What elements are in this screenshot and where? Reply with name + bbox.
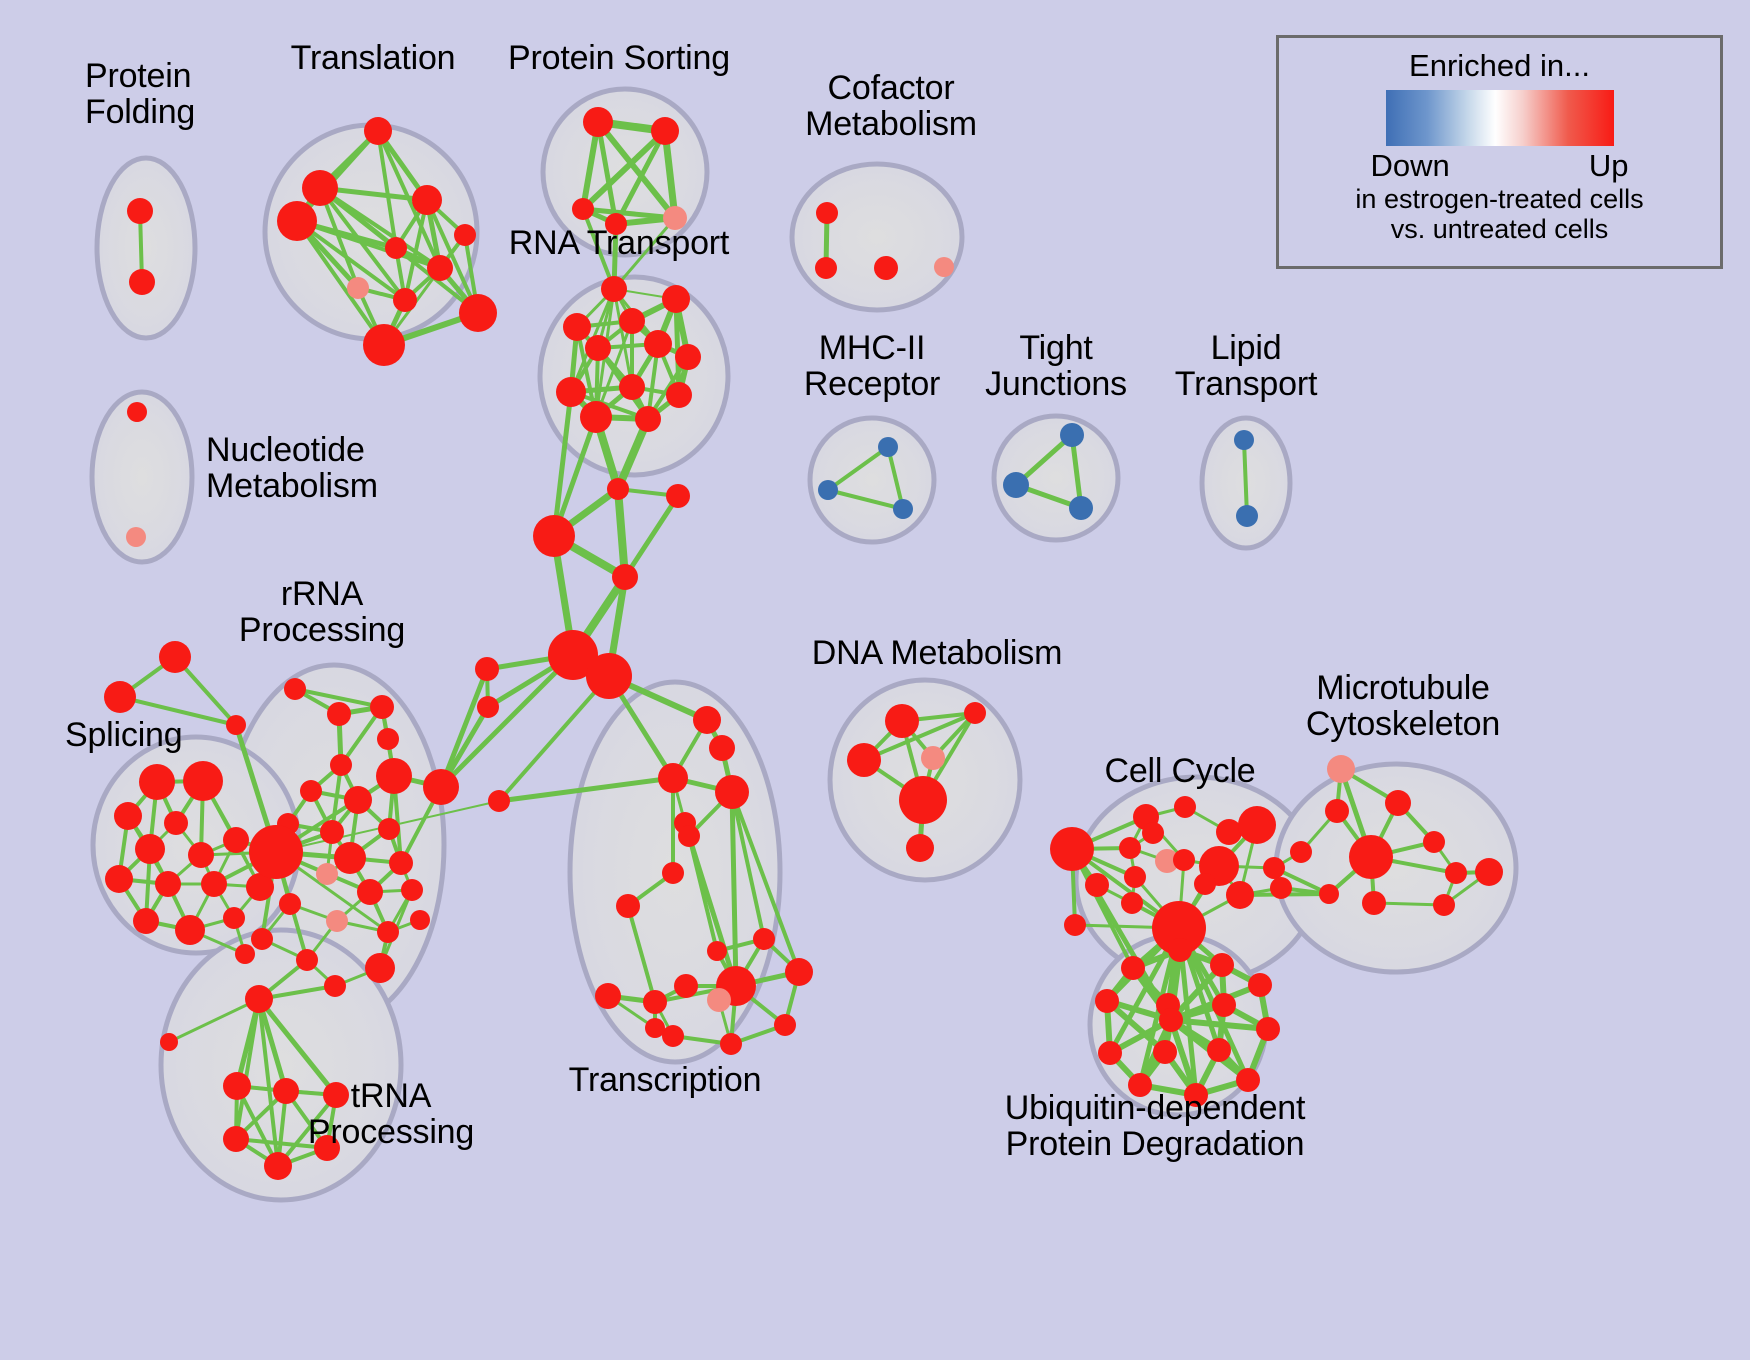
network-node[interactable] xyxy=(658,763,688,793)
network-figure: ProteinFoldingTranslationProtein Sorting… xyxy=(0,0,1750,1360)
cluster-label-splicing: Splicing xyxy=(65,717,182,753)
network-node[interactable] xyxy=(459,294,497,332)
network-node[interactable] xyxy=(365,953,395,983)
network-node[interactable] xyxy=(330,754,352,776)
network-edge xyxy=(618,489,625,577)
cluster-hull-protein-folding xyxy=(97,158,195,338)
network-node[interactable] xyxy=(389,851,413,875)
network-node[interactable] xyxy=(899,776,947,824)
network-node[interactable] xyxy=(1168,938,1192,962)
network-node[interactable] xyxy=(364,117,392,145)
cluster-label-line: RNA Transport xyxy=(509,225,729,261)
network-node[interactable] xyxy=(223,827,249,853)
cluster-hull-cofactor-metabolism xyxy=(792,164,962,310)
network-node[interactable] xyxy=(693,706,721,734)
network-node[interactable] xyxy=(127,198,153,224)
network-node[interactable] xyxy=(1319,884,1339,904)
network-node[interactable] xyxy=(1173,849,1195,871)
network-node[interactable] xyxy=(662,862,684,884)
cluster-label-line: tRNA xyxy=(308,1078,474,1114)
cluster-label-tight-junctions: TightJunctions xyxy=(985,330,1127,402)
cluster-label-line: Cell Cycle xyxy=(1104,753,1255,789)
network-node[interactable] xyxy=(674,974,698,998)
network-node[interactable] xyxy=(357,879,383,905)
network-node[interactable] xyxy=(160,1033,178,1051)
cluster-label-microtubule-cytoskeleton: MicrotubuleCytoskeleton xyxy=(1306,670,1500,742)
network-node[interactable] xyxy=(412,185,442,215)
network-node[interactable] xyxy=(709,735,735,761)
network-node[interactable] xyxy=(753,928,775,950)
legend-up-label: Up xyxy=(1589,148,1629,184)
network-node[interactable] xyxy=(964,702,986,724)
network-node[interactable] xyxy=(1174,796,1196,818)
network-node[interactable] xyxy=(601,276,627,302)
network-node[interactable] xyxy=(662,1025,684,1047)
cluster-label-cell-cycle: Cell Cycle xyxy=(1104,753,1255,789)
cluster-label-line: MHC-II xyxy=(804,330,940,366)
network-node[interactable] xyxy=(223,1126,249,1152)
network-node[interactable] xyxy=(651,117,679,145)
network-edge xyxy=(441,655,573,787)
network-node[interactable] xyxy=(223,907,245,929)
cluster-label-line: Lipid xyxy=(1175,330,1317,366)
network-edge xyxy=(625,496,678,577)
legend: Enriched in... Down Up in estrogen-treat… xyxy=(1276,35,1723,269)
network-node[interactable] xyxy=(1095,989,1119,1013)
network-node[interactable] xyxy=(1212,993,1236,1017)
cluster-label-line: Protein Sorting xyxy=(508,40,730,76)
cluster-label-rrna-processing: rRNAProcessing xyxy=(239,576,405,648)
network-node[interactable] xyxy=(1226,881,1254,909)
network-node[interactable] xyxy=(475,657,499,681)
network-node[interactable] xyxy=(324,975,346,997)
legend-endpoint-labels: Down Up xyxy=(1371,148,1629,184)
network-node[interactable] xyxy=(344,786,372,814)
legend-down-label: Down xyxy=(1371,148,1450,184)
cluster-label-line: Processing xyxy=(239,612,405,648)
legend-caption-line1: in estrogen-treated cells xyxy=(1355,184,1643,214)
cluster-label-line: Cofactor xyxy=(805,70,977,106)
network-node[interactable] xyxy=(316,863,338,885)
network-node[interactable] xyxy=(104,681,136,713)
network-node[interactable] xyxy=(1098,1041,1122,1065)
network-node[interactable] xyxy=(423,769,459,805)
network-node[interactable] xyxy=(1349,835,1393,879)
network-node[interactable] xyxy=(635,406,661,432)
network-node[interactable] xyxy=(1327,755,1355,783)
network-node[interactable] xyxy=(1445,862,1467,884)
cluster-label-line: Microtubule xyxy=(1306,670,1500,706)
network-node[interactable] xyxy=(1290,841,1312,863)
cluster-label-line: Cytoskeleton xyxy=(1306,706,1500,742)
cluster-label-nucleotide-metabolism: NucleotideMetabolism xyxy=(206,432,378,504)
cluster-label-line: rRNA xyxy=(239,576,405,612)
network-node[interactable] xyxy=(583,107,613,137)
network-node[interactable] xyxy=(1159,1008,1183,1032)
network-node[interactable] xyxy=(377,728,399,750)
network-node[interactable] xyxy=(707,941,727,961)
network-node[interactable] xyxy=(235,944,255,964)
cluster-label-ubiquitin-degradation: Ubiquitin-dependentProtein Degradation xyxy=(1005,1090,1306,1162)
network-node[interactable] xyxy=(847,743,881,777)
cluster-hull-mhc-ii-receptor xyxy=(810,418,934,542)
cluster-label-translation: Translation xyxy=(291,40,456,76)
cluster-label-protein-sorting: Protein Sorting xyxy=(508,40,730,76)
network-node[interactable] xyxy=(580,401,612,433)
network-node[interactable] xyxy=(133,908,159,934)
network-node[interactable] xyxy=(1119,837,1141,859)
network-node[interactable] xyxy=(815,257,837,279)
network-node[interactable] xyxy=(488,790,510,812)
network-node[interactable] xyxy=(906,834,934,862)
network-node[interactable] xyxy=(785,958,813,986)
network-node[interactable] xyxy=(1194,873,1216,895)
network-node[interactable] xyxy=(1207,1038,1231,1062)
network-node[interactable] xyxy=(1238,806,1276,844)
network-node[interactable] xyxy=(1060,423,1084,447)
network-node[interactable] xyxy=(277,201,317,241)
cluster-label-line: Metabolism xyxy=(805,106,977,142)
network-node[interactable] xyxy=(1256,1017,1280,1041)
network-node[interactable] xyxy=(477,696,499,718)
cluster-label-line: Junctions xyxy=(985,366,1127,402)
legend-color-scale xyxy=(1386,90,1614,146)
network-node[interactable] xyxy=(1362,891,1386,915)
network-node[interactable] xyxy=(707,988,731,1012)
network-node[interactable] xyxy=(410,910,430,930)
cluster-label-line: Translation xyxy=(291,40,456,76)
network-node[interactable] xyxy=(893,499,913,519)
network-node[interactable] xyxy=(874,256,898,280)
network-node[interactable] xyxy=(885,704,919,738)
network-node[interactable] xyxy=(585,335,611,361)
cluster-label-mhc-ii-receptor: MHC-IIReceptor xyxy=(804,330,940,402)
cluster-label-line: Folding xyxy=(85,94,195,130)
network-node[interactable] xyxy=(105,865,133,893)
network-node[interactable] xyxy=(934,257,954,277)
network-node[interactable] xyxy=(139,764,175,800)
network-node[interactable] xyxy=(678,825,700,847)
network-node[interactable] xyxy=(616,894,640,918)
network-node[interactable] xyxy=(878,437,898,457)
cluster-label-protein-folding: ProteinFolding xyxy=(85,58,195,130)
legend-caption-line2: vs. untreated cells xyxy=(1391,214,1609,244)
cluster-label-line: Ubiquitin-dependent xyxy=(1005,1090,1306,1126)
network-node[interactable] xyxy=(363,324,405,366)
network-node[interactable] xyxy=(175,915,205,945)
network-node[interactable] xyxy=(1216,819,1242,845)
cluster-label-line: Tight xyxy=(985,330,1127,366)
network-node[interactable] xyxy=(300,780,322,802)
network-node[interactable] xyxy=(155,871,181,897)
cluster-label-line: Nucleotide xyxy=(206,432,378,468)
network-node[interactable] xyxy=(226,715,246,735)
cluster-label-dna-metabolism: DNA Metabolism xyxy=(812,635,1062,671)
network-node[interactable] xyxy=(612,564,638,590)
legend-title: Enriched in... xyxy=(1409,48,1590,84)
network-node[interactable] xyxy=(1236,505,1258,527)
network-node[interactable] xyxy=(1153,1040,1177,1064)
network-node[interactable] xyxy=(223,1072,251,1100)
network-node[interactable] xyxy=(251,928,273,950)
network-node[interactable] xyxy=(572,198,594,220)
network-node[interactable] xyxy=(245,985,273,1013)
network-node[interactable] xyxy=(427,255,453,281)
network-node[interactable] xyxy=(774,1014,796,1036)
network-node[interactable] xyxy=(1234,430,1254,450)
network-node[interactable] xyxy=(607,478,629,500)
network-node[interactable] xyxy=(715,775,749,809)
network-node[interactable] xyxy=(127,402,147,422)
network-node[interactable] xyxy=(816,202,838,224)
network-node[interactable] xyxy=(401,879,423,901)
network-node[interactable] xyxy=(320,820,344,844)
network-node[interactable] xyxy=(921,746,945,770)
network-node[interactable] xyxy=(249,825,303,879)
network-node[interactable] xyxy=(376,758,412,794)
network-node[interactable] xyxy=(1003,472,1029,498)
network-node[interactable] xyxy=(1069,496,1093,520)
network-node[interactable] xyxy=(1433,894,1455,916)
network-node[interactable] xyxy=(586,653,632,699)
cluster-label-transcription: Transcription xyxy=(569,1062,762,1098)
network-node[interactable] xyxy=(595,983,621,1009)
network-node[interactable] xyxy=(1248,973,1272,997)
network-node[interactable] xyxy=(1325,799,1349,823)
network-node[interactable] xyxy=(563,313,591,341)
network-node[interactable] xyxy=(279,893,301,915)
network-node[interactable] xyxy=(662,285,690,313)
network-node[interactable] xyxy=(1385,790,1411,816)
network-node[interactable] xyxy=(114,802,142,830)
network-node[interactable] xyxy=(675,344,701,370)
network-node[interactable] xyxy=(385,237,407,259)
network-node[interactable] xyxy=(1475,858,1503,886)
network-node[interactable] xyxy=(645,1018,665,1038)
network-node[interactable] xyxy=(1121,956,1145,980)
network-node[interactable] xyxy=(1064,914,1086,936)
network-node[interactable] xyxy=(666,382,692,408)
network-node[interactable] xyxy=(644,330,672,358)
network-node[interactable] xyxy=(1270,877,1292,899)
network-node[interactable] xyxy=(273,1078,299,1104)
cluster-label-line: Protein Degradation xyxy=(1005,1126,1306,1162)
network-node[interactable] xyxy=(666,484,690,508)
cluster-label-line: Receptor xyxy=(804,366,940,402)
cluster-label-rna-transport: RNA Transport xyxy=(509,225,729,261)
network-node[interactable] xyxy=(183,761,223,801)
network-node[interactable] xyxy=(393,288,417,312)
network-node[interactable] xyxy=(1124,866,1146,888)
network-node[interactable] xyxy=(556,377,586,407)
network-node[interactable] xyxy=(188,842,214,868)
network-node[interactable] xyxy=(164,811,188,835)
cluster-label-line: Splicing xyxy=(65,717,182,753)
cluster-label-line: Protein xyxy=(85,58,195,94)
network-node[interactable] xyxy=(284,678,306,700)
cluster-label-trna-processing: tRNAProcessing xyxy=(308,1078,474,1150)
network-node[interactable] xyxy=(302,170,338,206)
cluster-label-line: DNA Metabolism xyxy=(812,635,1062,671)
cluster-label-line: Processing xyxy=(308,1114,474,1150)
network-node[interactable] xyxy=(129,269,155,295)
network-node[interactable] xyxy=(1121,892,1143,914)
network-node[interactable] xyxy=(377,921,399,943)
cluster-label-line: Transport xyxy=(1175,366,1317,402)
network-node[interactable] xyxy=(1050,827,1094,871)
network-node[interactable] xyxy=(326,910,348,932)
cluster-label-line: Transcription xyxy=(569,1062,762,1098)
network-node[interactable] xyxy=(720,1033,742,1055)
network-node[interactable] xyxy=(126,527,146,547)
network-node[interactable] xyxy=(1210,953,1234,977)
network-node[interactable] xyxy=(1423,831,1445,853)
network-node[interactable] xyxy=(159,641,191,673)
network-node[interactable] xyxy=(643,990,667,1014)
network-node[interactable] xyxy=(334,842,366,874)
network-node[interactable] xyxy=(818,480,838,500)
network-node[interactable] xyxy=(1085,873,1109,897)
network-node[interactable] xyxy=(533,515,575,557)
network-node[interactable] xyxy=(619,374,645,400)
cluster-label-line: Metabolism xyxy=(206,468,378,504)
cluster-label-lipid-transport: LipidTransport xyxy=(1175,330,1317,402)
network-node[interactable] xyxy=(135,834,165,864)
network-node[interactable] xyxy=(1142,822,1164,844)
network-node[interactable] xyxy=(370,695,394,719)
network-edge xyxy=(441,669,487,787)
network-node[interactable] xyxy=(264,1152,292,1180)
network-node[interactable] xyxy=(201,871,227,897)
network-node[interactable] xyxy=(327,702,351,726)
network-node[interactable] xyxy=(454,224,476,246)
cluster-label-cofactor-metabolism: CofactorMetabolism xyxy=(805,70,977,142)
network-edge xyxy=(676,299,679,395)
network-node[interactable] xyxy=(1263,857,1285,879)
network-node[interactable] xyxy=(378,818,400,840)
network-node[interactable] xyxy=(619,308,645,334)
network-node[interactable] xyxy=(296,949,318,971)
network-node[interactable] xyxy=(347,277,369,299)
